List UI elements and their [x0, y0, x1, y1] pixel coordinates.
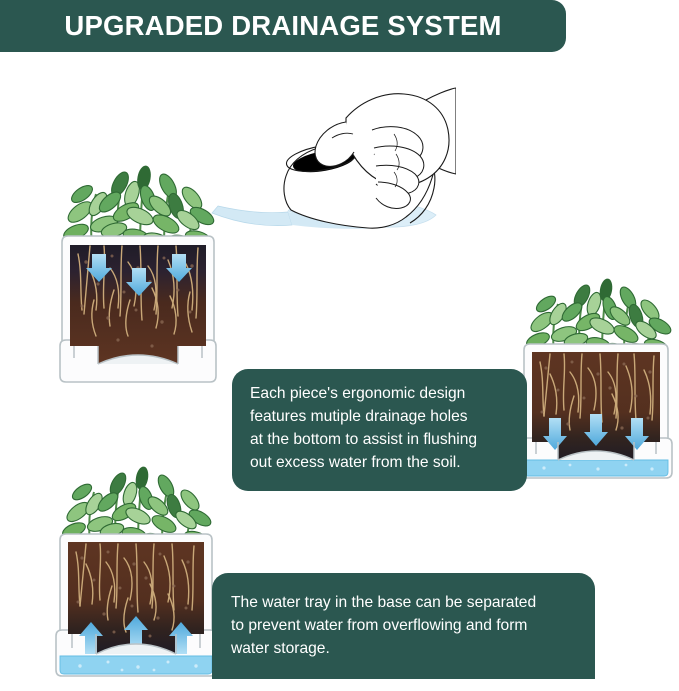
water-flow-arrows-down: [543, 414, 649, 450]
callout-line: to prevent water from overflowing and fo…: [231, 615, 595, 638]
watering-illustration: [196, 78, 456, 273]
water-stream-icon: [212, 206, 292, 226]
callout-line: Each piece's ergonomic design: [250, 383, 527, 406]
planter-water-storage-stage: [46, 458, 226, 691]
callout-line: water storage.: [231, 638, 595, 661]
callout-line: at the bottom to assist in flushing: [250, 429, 527, 452]
title-banner: UPGRADED DRAINAGE SYSTEM: [0, 0, 566, 52]
planter-watering-stage: [52, 150, 224, 400]
page-title: UPGRADED DRAINAGE SYSTEM: [64, 10, 501, 42]
callout-line: features mutiple drainage holes: [250, 406, 527, 429]
tray-water-fill: [60, 656, 212, 674]
callout-line: out excess water from the soil.: [250, 452, 527, 475]
callout-water-tray: The water tray in the base can be separa…: [212, 573, 595, 679]
callout-drainage-holes: Each piece's ergonomic design features m…: [232, 369, 527, 491]
planter-draining-stage: [512, 272, 679, 498]
callout-line: The water tray in the base can be separa…: [231, 592, 595, 615]
